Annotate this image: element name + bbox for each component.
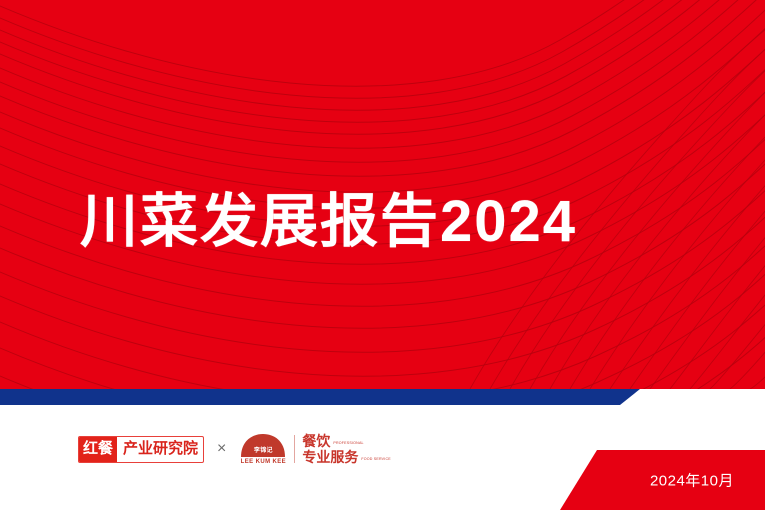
hongcan-logo-mark: 红餐	[79, 437, 117, 462]
hongcan-logo-wordmark: 产业研究院	[117, 437, 203, 462]
lee-kum-kee-arch-icon: 李锦记	[240, 433, 286, 457]
tagline-cn-2: 专业服务	[302, 450, 358, 465]
report-date: 2024年10月	[650, 470, 734, 491]
page-title: 川菜发展报告2024	[80, 193, 577, 251]
logo-divider	[294, 435, 295, 463]
hongcan-research-institute-logo: 红餐 产业研究院	[78, 436, 204, 463]
lee-kum-kee-tagline: 餐饮 PROFESSIONAL 专业服务 FOOD SERVICE	[302, 434, 391, 465]
tagline-line-1: 餐饮 PROFESSIONAL	[302, 434, 391, 449]
tagline-line-2: 专业服务 FOOD SERVICE	[302, 450, 391, 465]
blue-accent-band	[0, 389, 640, 405]
lee-kum-kee-english-mark: LEE KUM KEE	[241, 459, 286, 465]
report-cover: 川菜发展报告2024 红餐 产业研究院 × 李锦记 LEE KUM KEE	[0, 0, 765, 510]
lee-kum-kee-logo: 李锦记 LEE KUM KEE 餐饮 PROFESSIONAL 专业服务 FOO…	[239, 433, 391, 465]
tagline-en-2: FOOD SERVICE	[361, 457, 391, 462]
partnership-cross-icon: ×	[217, 441, 226, 457]
tagline-cn-1: 餐饮	[302, 434, 330, 449]
tagline-en-1: PROFESSIONAL	[333, 441, 363, 446]
partner-logo-row: 红餐 产业研究院 × 李锦记 LEE KUM KEE 餐饮 PROFESSION…	[78, 428, 391, 470]
lee-kum-kee-emblem: 李锦记 LEE KUM KEE	[239, 433, 287, 465]
lee-kum-kee-chinese-mark: 李锦记	[240, 445, 286, 454]
